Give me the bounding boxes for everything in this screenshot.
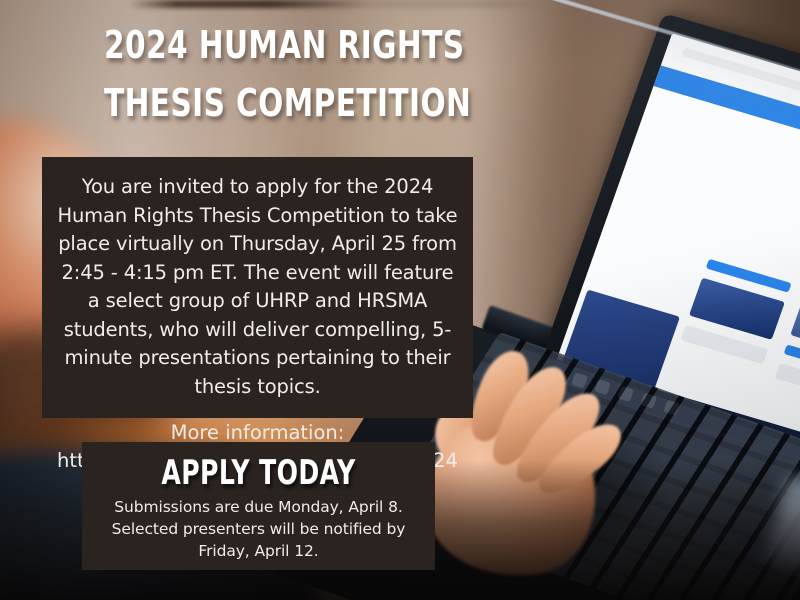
apply-deadline-text: Submissions are due Monday, April 8. Sel… bbox=[94, 496, 423, 562]
invitation-info-box: You are invited to apply for the 2024 Hu… bbox=[42, 157, 473, 418]
deadline-line-3: Friday, April 12. bbox=[94, 540, 423, 562]
deadline-line-2: Selected presenters will be notified by bbox=[94, 518, 423, 540]
feed-column-left bbox=[677, 259, 792, 374]
spacer bbox=[56, 401, 459, 419]
headline-line-1: 2024 Human Rights bbox=[104, 23, 464, 67]
more-information-label: More information: bbox=[171, 421, 345, 444]
poster-headline: 2024 Human Rights Thesis Competition bbox=[104, 16, 416, 132]
invitation-body-text: You are invited to apply for the 2024 Hu… bbox=[56, 173, 459, 401]
feed-card bbox=[775, 363, 800, 403]
apply-today-title: Apply Today bbox=[137, 452, 380, 494]
deadline-line-1: Submissions are due Monday, April 8. bbox=[94, 496, 423, 518]
apply-today-box: Apply Today Submissions are due Monday, … bbox=[82, 442, 435, 570]
headline-line-2: Thesis Competition bbox=[104, 74, 416, 132]
poster-canvas: 2024 Human Rights Thesis Competition You… bbox=[0, 0, 800, 600]
